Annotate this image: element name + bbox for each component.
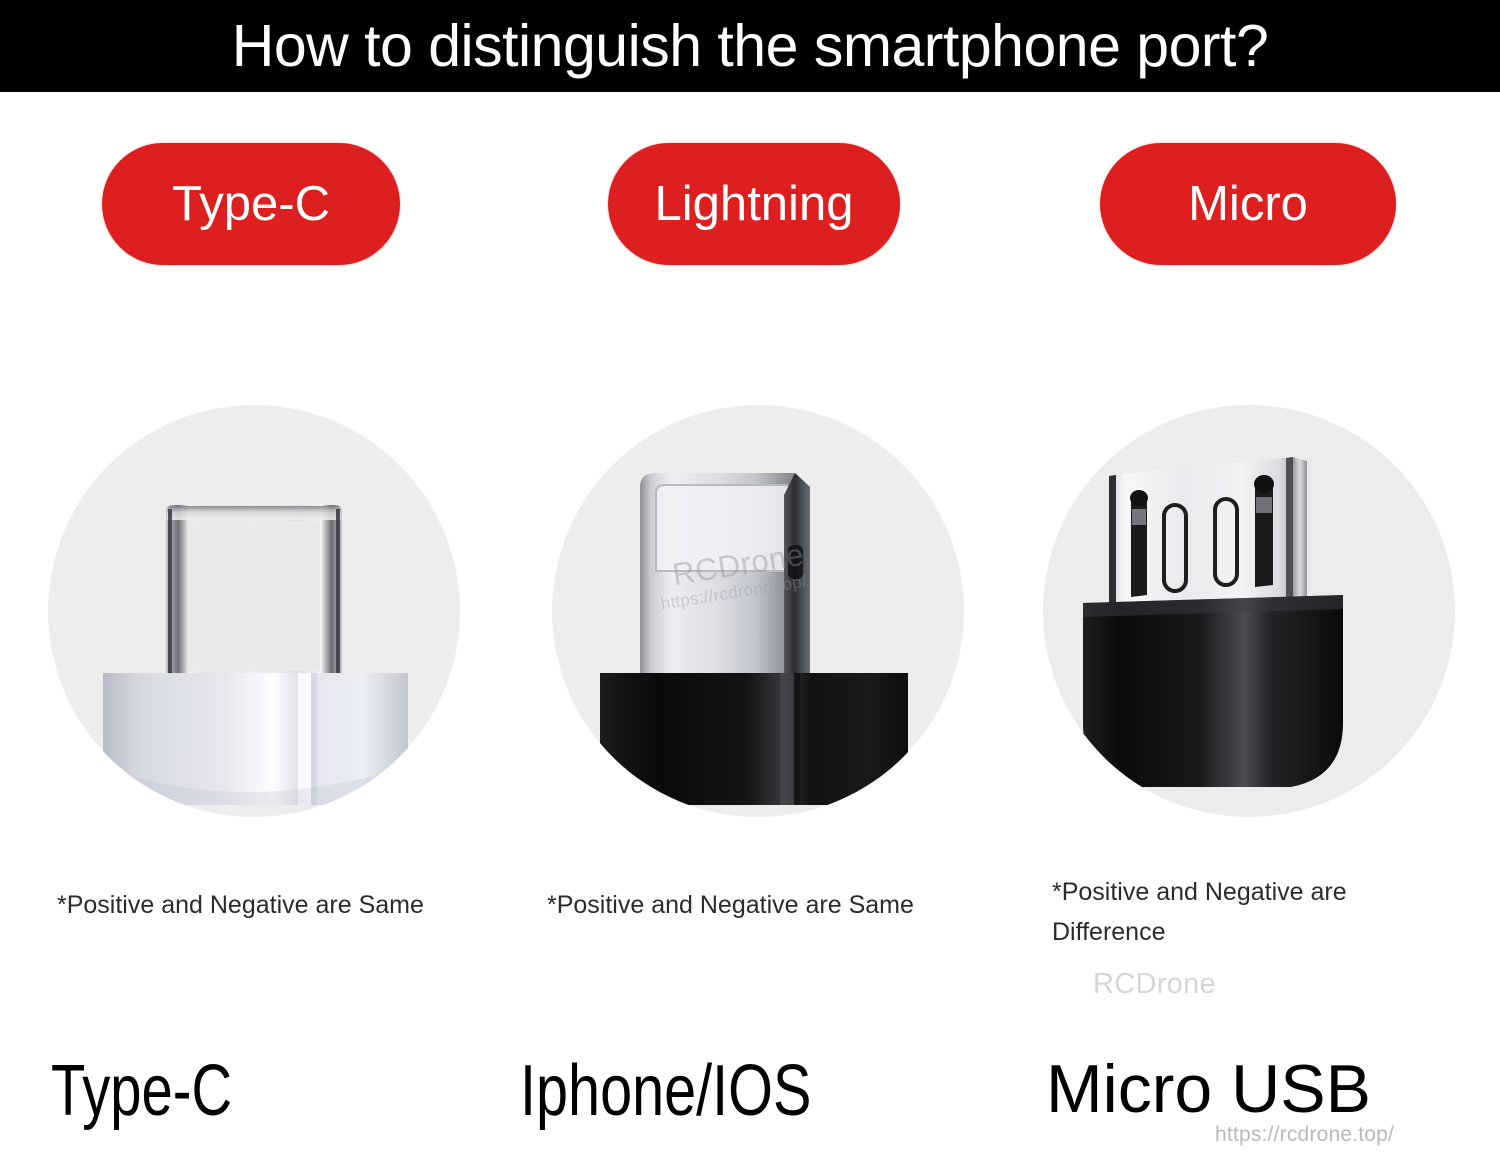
connector-column-lightning: Lightning <box>500 92 1000 1173</box>
polarity-note: *Positive and Negative are Same <box>57 885 517 925</box>
polarity-note: *Positive and Negative are Difference <box>1052 872 1422 952</box>
connector-column-micro-usb: Micro <box>1000 92 1500 1173</box>
badge-label: Micro <box>1188 180 1308 229</box>
badge-label: Lightning <box>655 180 854 229</box>
connector-name-label: Iphone/IOS <box>520 1055 811 1127</box>
photo-micro-usb <box>1043 405 1455 817</box>
page-title: How to distinguish the smartphone port? <box>232 17 1269 76</box>
micro-usb-connector-icon <box>1043 405 1455 817</box>
photo-type-c <box>48 405 460 817</box>
badge-lightning[interactable]: Lightning <box>608 143 900 265</box>
title-band: How to distinguish the smartphone port? <box>0 0 1500 92</box>
badge-type-c[interactable]: Type-C <box>102 143 400 265</box>
photo-lightning: RCDrone https://rcdrone.top/ <box>552 405 964 817</box>
connector-name-label: Micro USB <box>1046 1055 1371 1123</box>
connector-column-type-c: Type-C <box>0 92 500 1173</box>
footer-watermark-url: https://rcdrone.top/ <box>1215 1123 1394 1147</box>
polarity-note: *Positive and Negative are Same <box>547 885 1007 925</box>
note-watermark-brand: RCDrone <box>1093 968 1216 1001</box>
badge-label: Type-C <box>172 180 330 229</box>
connector-name-label: Type-C <box>51 1055 232 1127</box>
lightning-connector-icon <box>552 405 964 817</box>
badge-micro[interactable]: Micro <box>1100 143 1396 265</box>
usb-type-c-connector-icon <box>48 405 460 817</box>
connector-comparison-grid: Type-C <box>0 92 1500 1173</box>
